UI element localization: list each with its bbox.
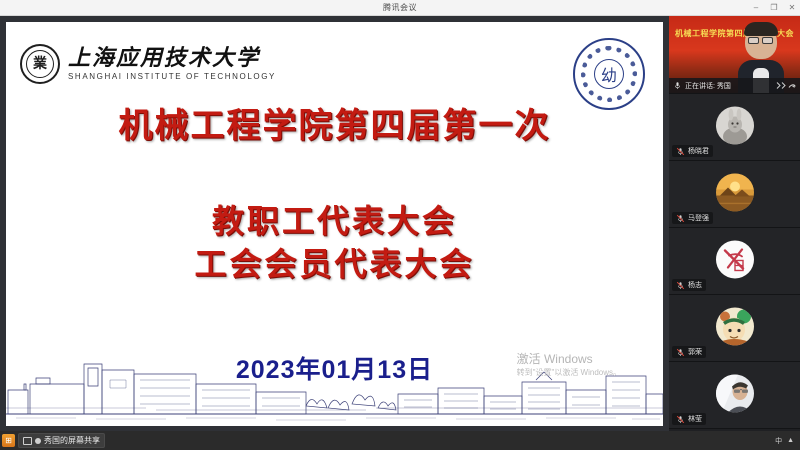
- participant-name: 林莹: [688, 414, 702, 424]
- speaker-glasses-right: [762, 37, 773, 44]
- university-seal-glyph: 業: [33, 57, 47, 71]
- university-logo: 業 上海应用技术大学 SHANGHAI INSTITUTE OF TECHNOL…: [20, 44, 276, 84]
- microphone-muted-icon: [676, 214, 685, 223]
- speaker-hair: [744, 22, 778, 36]
- taskbar-task-screen-share[interactable]: 秀国的屏幕共享: [18, 433, 105, 448]
- participant-name: 杨志: [688, 280, 702, 290]
- avatar: [716, 240, 754, 278]
- minimize-icon[interactable]: –: [751, 4, 761, 12]
- slide-title-line2: 教职工代表大会: [6, 200, 663, 243]
- participants-rail[interactable]: 机械工程学院第四届第一次大会 正在讲话: 秀国: [669, 16, 800, 431]
- participant-namebar: 林莹: [672, 413, 706, 425]
- maximize-icon[interactable]: ❐: [769, 4, 779, 12]
- university-seal-icon: 業: [20, 44, 60, 84]
- participant-tile[interactable]: 杨晓君: [669, 94, 800, 161]
- windows-taskbar[interactable]: ⊞ 秀国的屏幕共享 中 ▲: [0, 431, 800, 450]
- window-titlebar: 腾讯会议 – ❐ ✕: [0, 0, 800, 16]
- participant-name: 杨晓君: [688, 146, 709, 156]
- close-icon[interactable]: ✕: [787, 4, 797, 12]
- slide-title-line3: 工会会员代表大会: [6, 243, 663, 286]
- tray-overflow-icon[interactable]: ▲: [787, 437, 794, 444]
- avatar: [716, 106, 754, 144]
- avatar: [716, 173, 754, 211]
- participant-namebar: 杨志: [672, 279, 706, 291]
- shared-screen-area[interactable]: 業 上海应用技术大学 SHANGHAI INSTITUTE OF TECHNOL…: [0, 16, 669, 431]
- slide-title-line1: 机械工程学院第四届第一次: [6, 108, 663, 145]
- university-name-cn: 上海应用技术大学: [68, 47, 276, 70]
- active-speaker-tile[interactable]: 机械工程学院第四届第一次大会 正在讲话: 秀国: [669, 16, 800, 94]
- system-tray[interactable]: 中 ▲: [775, 436, 798, 446]
- volume-waves-icon: [774, 81, 796, 90]
- participant-name: 马登强: [688, 213, 709, 223]
- participant-namebar: 杨晓君: [672, 145, 713, 157]
- share-indicator-icon: [35, 438, 41, 444]
- university-name-en: SHANGHAI INSTITUTE OF TECHNOLOGY: [68, 72, 276, 81]
- campus-panorama-illustration: [6, 340, 663, 426]
- microphone-muted-icon: [676, 348, 685, 357]
- ime-indicator[interactable]: 中: [775, 436, 782, 446]
- microphone-icon: [673, 81, 682, 90]
- college-emblem-icon: 幼: [573, 38, 645, 110]
- slide-title-lines-23: 教职工代表大会 工会会员代表大会: [6, 200, 663, 286]
- avatar: [716, 374, 754, 412]
- microphone-muted-icon: [676, 415, 685, 424]
- start-button-icon[interactable]: ⊞: [2, 434, 15, 447]
- taskbar-task-label: 秀国的屏幕共享: [44, 435, 100, 446]
- participant-name: 郭荣: [688, 347, 702, 357]
- participant-tile[interactable]: 郭荣: [669, 295, 800, 362]
- participant-namebar: 马登强: [672, 212, 713, 224]
- college-emblem-core-glyph: 幼: [594, 59, 624, 89]
- participant-namebar: 郭荣: [672, 346, 706, 358]
- participant-tile[interactable]: 杨志: [669, 228, 800, 295]
- window-controls: – ❐ ✕: [751, 0, 797, 16]
- microphone-muted-icon: [676, 147, 685, 156]
- avatar: [716, 307, 754, 345]
- speaker-glasses-left: [748, 37, 759, 44]
- participant-tile[interactable]: 林莹: [669, 362, 800, 429]
- speaker-status-label: 正在讲话: 秀国: [685, 81, 731, 91]
- microphone-muted-icon: [676, 281, 685, 290]
- presentation-slide: 業 上海应用技术大学 SHANGHAI INSTITUTE OF TECHNOL…: [6, 22, 663, 426]
- window-title: 腾讯会议: [383, 2, 417, 13]
- speaker-tile-controls[interactable]: [774, 81, 796, 90]
- participant-tile[interactable]: 马登强: [669, 161, 800, 228]
- university-name-block: 上海应用技术大学 SHANGHAI INSTITUTE OF TECHNOLOG…: [68, 47, 276, 81]
- speaker-status-strip: 正在讲话: 秀国: [669, 78, 800, 93]
- monitor-icon: [23, 437, 32, 445]
- tencent-meeting-window: 腾讯会议 – ❐ ✕ 業 上海应用技术大学 SHANGHAI INSTITUTE…: [0, 0, 800, 450]
